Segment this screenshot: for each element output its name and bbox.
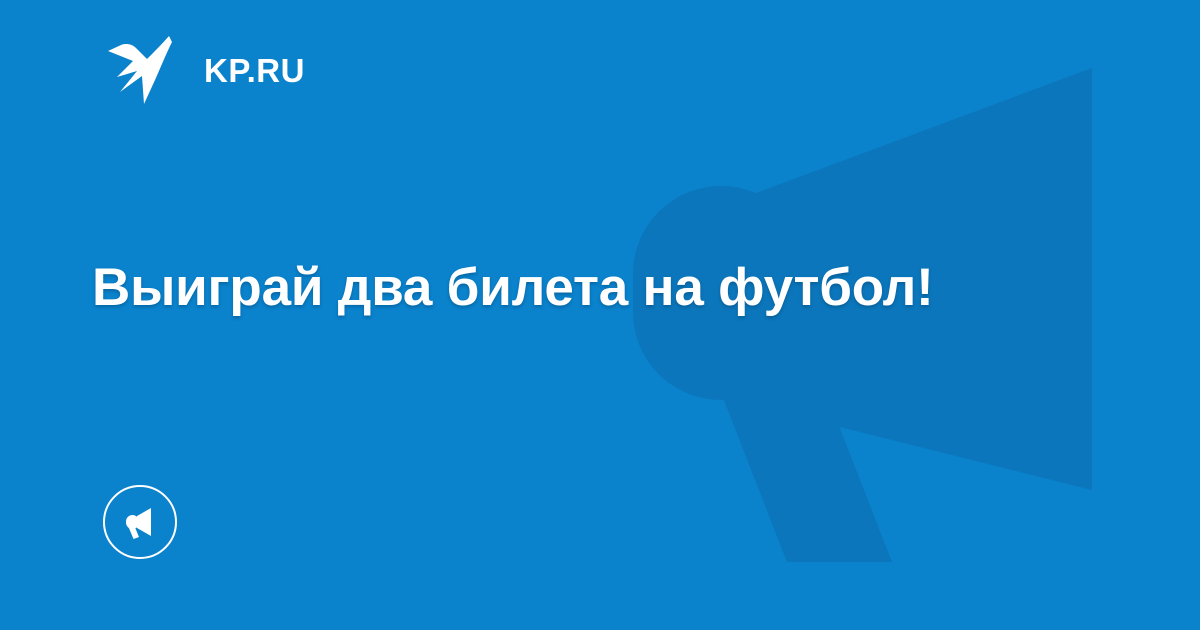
brand-logo[interactable]: KP.RU xyxy=(106,34,305,106)
share-card: KP.RU Выиграй два билета на футбол! xyxy=(0,0,1200,630)
page-title: Выиграй два билета на футбол! xyxy=(92,258,1112,317)
megaphone-icon xyxy=(120,502,160,542)
megaphone-badge[interactable] xyxy=(103,485,177,559)
brand-name: KP.RU xyxy=(204,54,305,87)
swallow-bird-icon xyxy=(106,34,184,106)
